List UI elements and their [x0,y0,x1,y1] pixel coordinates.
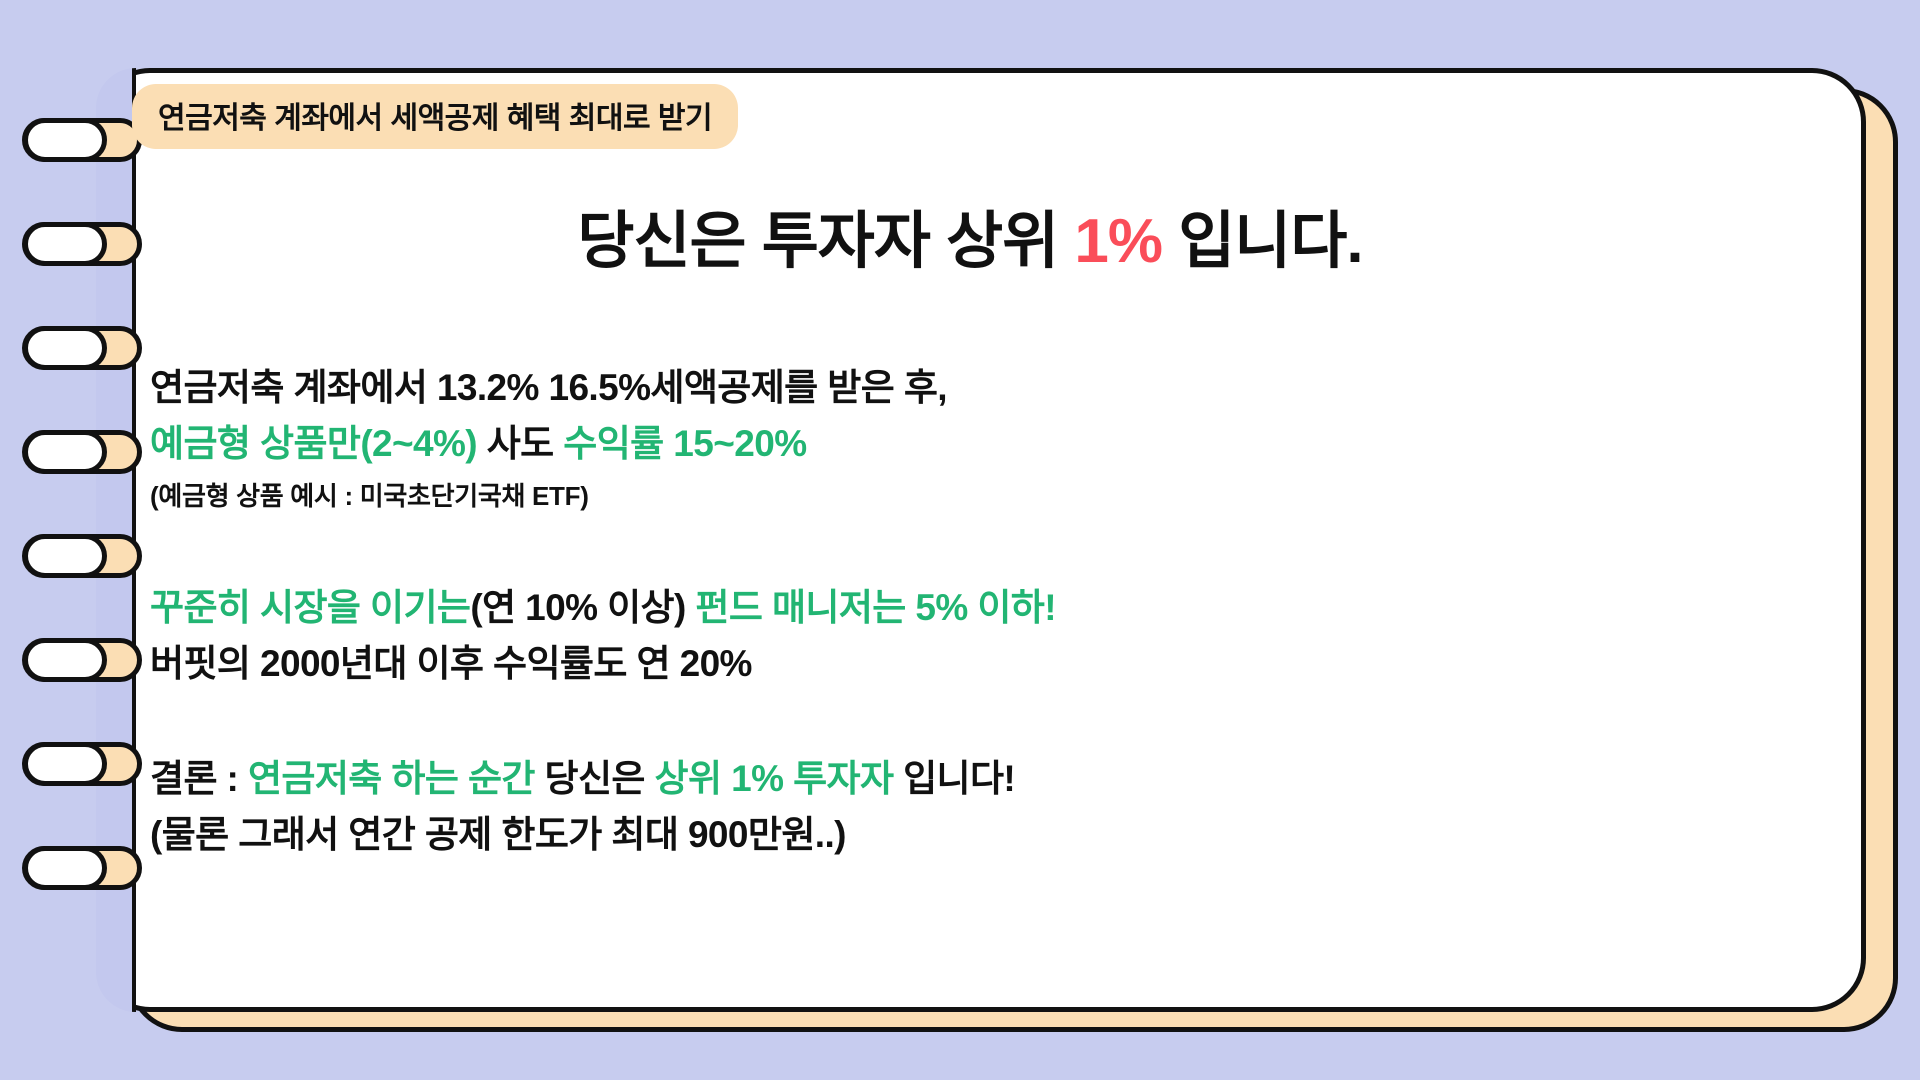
line2-part-1: 사도 [477,423,563,464]
body-line-5: 결론 : 연금저축 하는 순간 당신은 상위 1% 투자자 입니다! [150,751,1790,807]
card-stage: 연금저축 계좌에서 세액공제 혜택 최대로 받기 당신은 투자자 상위 1% 입… [0,0,1920,1080]
binder-ring-hole [23,742,107,786]
binder-ring [22,742,142,786]
binder-ring [22,846,142,890]
binder-ring-hole [23,222,107,266]
body-note-1: (예금형 상품 예시 : 미국초단기국채 ETF) [150,476,1790,518]
line3-part-1: (연 10% 이상) [470,587,685,628]
binder-ring [22,430,142,474]
spacer-2 [150,693,1790,751]
line5-part-2: 당신은 [535,758,655,799]
line2-part-0: 예금형 상품만(2~4%) [150,423,477,464]
line3-part-0: 꾸준히 시장을 이기는 [150,587,470,628]
line4-part-0: 버핏의 2000년대 이후 수익률도 연 20% [150,643,752,684]
binder-ring-hole [23,430,107,474]
binder-ring-hole [23,118,107,162]
spacer-1 [150,518,1790,580]
binder-ring [22,326,142,370]
card-content: 연금저축 계좌에서 세액공제 혜택 최대로 받기 당신은 투자자 상위 1% 입… [150,68,1850,1012]
line5-part-3: 상위 1% 투자자 [655,758,894,799]
headline-after: 입니다. [1162,207,1363,276]
binder-ring [22,534,142,578]
binder-ring [22,118,142,162]
binder-ring [22,638,142,682]
body-line-3: 꾸준히 시장을 이기는(연 10% 이상) 펀드 매니저는 5% 이하! [150,580,1790,636]
line6-part-0: (물론 그래서 연간 공제 한도가 최대 900만원..) [150,814,846,855]
line5-part-0: 결론 : [150,758,248,799]
binder-ring-hole [23,534,107,578]
binder-ring-hole [23,846,107,890]
page-title: 당신은 투자자 상위 1% 입니다. [150,190,1790,280]
binder-ring-hole [23,638,107,682]
body-line-2: 예금형 상품만(2~4%) 사도 수익률 15~20% [150,416,1790,472]
line2-part-2: 수익률 15~20% [563,423,806,464]
headline-accent-percent: 1% [1074,207,1162,276]
binder-rings [0,68,170,1012]
binder-ring-hole [23,326,107,370]
binder-ring [22,222,142,266]
body-line-1: 연금저축 계좌에서 13.2% 16.5%세액공제를 받은 후, [150,360,1790,416]
line1-part-0: 연금저축 계좌에서 13.2% 16.5%세액공제를 받은 후, [150,367,947,408]
line5-part-1: 연금저축 하는 순간 [248,758,535,799]
body-text-block: 연금저축 계좌에서 13.2% 16.5%세액공제를 받은 후, 예금형 상품만… [150,360,1790,863]
header-badge: 연금저축 계좌에서 세액공제 혜택 최대로 받기 [132,84,738,149]
body-line-4: 버핏의 2000년대 이후 수익률도 연 20% [150,636,1790,692]
line5-part-4: 입니다! [893,758,1015,799]
line3-part-2: 펀드 매니저는 5% 이하! [686,587,1056,628]
body-line-6: (물론 그래서 연간 공제 한도가 최대 900만원..) [150,807,1790,863]
headline-before: 당신은 투자자 상위 [577,207,1074,276]
